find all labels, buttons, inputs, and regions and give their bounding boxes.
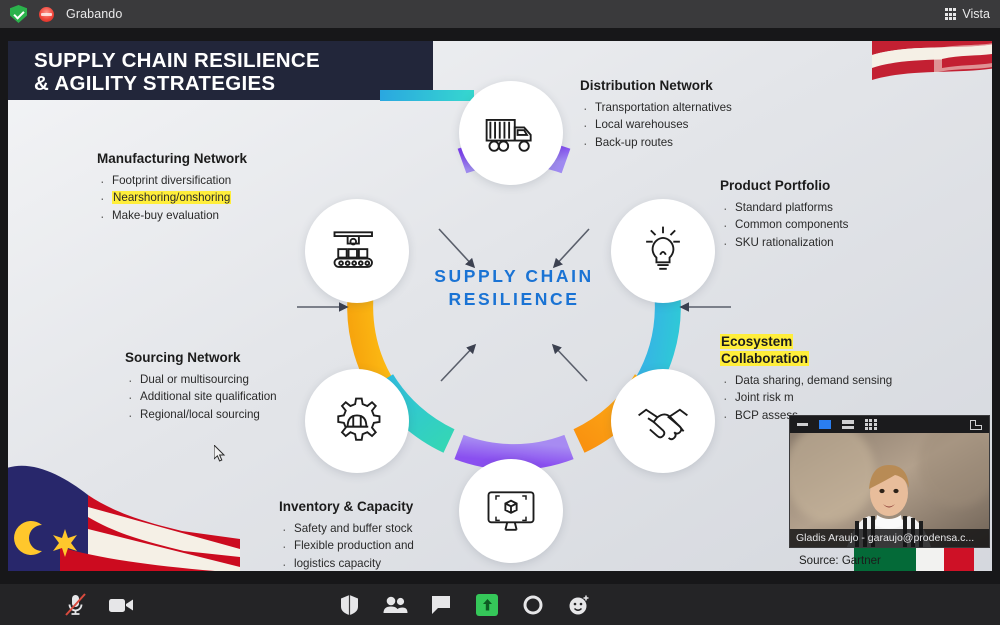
section-heading: Distribution Network — [580, 78, 795, 95]
list-item: Additional site qualification — [125, 388, 340, 405]
recording-indicator-icon[interactable] — [39, 7, 54, 22]
us-flag — [872, 41, 992, 113]
view-label: Vista — [962, 7, 990, 21]
heading-part1: Ecosystem — [720, 334, 793, 349]
list-item: Data sharing, demand sensing — [720, 372, 935, 389]
security-button[interactable] — [326, 584, 372, 625]
section-heading: Manufacturing Network — [97, 151, 297, 168]
microphone-muted-icon — [65, 593, 86, 617]
list-item: Standard platforms — [720, 199, 935, 216]
center-line2: RESILIENCE — [448, 289, 579, 309]
view-button[interactable]: Vista — [945, 7, 990, 21]
list-item: Safety and buffer stock — [279, 520, 494, 537]
chat-icon — [430, 594, 452, 615]
list-item: Footprint diversification — [97, 172, 297, 189]
section-manufacturing: Manufacturing Network Footprint diversif… — [97, 151, 297, 224]
shield-check-icon[interactable] — [10, 5, 27, 23]
malaysia-flag — [8, 451, 240, 571]
section-heading: Product Portfolio — [720, 178, 935, 195]
list-item: Regional/local sourcing — [125, 406, 340, 423]
section-ecosystem: Ecosystem Collaboration Data sharing, de… — [720, 334, 935, 424]
recording-label: Grabando — [66, 7, 122, 21]
list-item: Make-buy evaluation — [97, 207, 297, 224]
list-item: logistics capacity — [279, 555, 494, 571]
list-item: Transportation alternatives — [580, 99, 795, 116]
source-label: Source: Gartner — [799, 555, 881, 567]
record-button[interactable] — [510, 584, 556, 625]
participant-name-label: Gladis Araujo - garaujo@prodensa.c... — [790, 529, 989, 547]
section-bullets: Standard platforms Common components SKU… — [720, 199, 935, 251]
dump-truck-icon — [481, 103, 541, 163]
reactions-icon — [568, 594, 591, 616]
list-item: Flexible production and — [279, 537, 494, 554]
list-item: Back-up routes — [580, 134, 795, 151]
slide-title-line2: & AGILITY STRATEGIES — [34, 72, 275, 95]
section-inventory: Inventory & Capacity Safety and buffer s… — [279, 499, 494, 571]
video-panel-toolbar[interactable] — [790, 416, 989, 433]
recording-status: Grabando — [10, 5, 122, 23]
section-heading: Inventory & Capacity — [279, 499, 494, 516]
section-sourcing: Sourcing Network Dual or multisourcing A… — [125, 350, 340, 423]
microphone-button[interactable] — [52, 584, 98, 625]
active-view-icon[interactable] — [819, 420, 831, 429]
share-screen-icon — [476, 594, 498, 616]
shield-icon — [340, 594, 359, 616]
center-label: SUPPLY CHAIN RESILIENCE — [364, 265, 664, 311]
list-item: Dual or multisourcing — [125, 371, 340, 388]
share-screen-button[interactable] — [464, 584, 510, 625]
list-item: Local warehouses — [580, 116, 795, 133]
reactions-button[interactable] — [556, 584, 602, 625]
top-bar: Grabando Vista — [0, 0, 1000, 28]
node-distribution[interactable] — [459, 81, 563, 185]
heading-part2: Collaboration — [720, 351, 809, 366]
mouse-cursor — [214, 445, 226, 462]
section-bullets: Transportation alternatives Local wareho… — [580, 99, 795, 151]
meeting-window: Grabando Vista — [0, 0, 1000, 625]
meeting-toolbar — [0, 584, 1000, 625]
rows-view-icon[interactable] — [842, 420, 854, 429]
grid-icon — [945, 8, 957, 20]
list-item: SKU rationalization — [720, 234, 935, 251]
section-bullets: Safety and buffer stock Flexible product… — [279, 520, 494, 571]
section-distribution: Distribution Network Transportation alte… — [580, 78, 795, 151]
grid-view-icon[interactable] — [865, 419, 877, 431]
camera-button[interactable] — [98, 584, 144, 625]
minimize-icon[interactable] — [797, 423, 808, 426]
slide-title-line1: SUPPLY CHAIN RESILIENCE — [34, 49, 320, 72]
camera-icon — [108, 596, 134, 614]
section-heading: Ecosystem Collaboration — [720, 334, 935, 368]
participants-button[interactable] — [372, 584, 418, 625]
video-feed[interactable]: Gladis Araujo - garaujo@prodensa.c... — [790, 433, 989, 547]
record-icon — [522, 594, 544, 616]
shared-screen-stage[interactable]: SUPPLY CHAIN RESILIENCE & AGILITY STRATE… — [0, 28, 1000, 584]
node-ecosystem[interactable] — [611, 369, 715, 473]
section-product-portfolio: Product Portfolio Standard platforms Com… — [720, 178, 935, 251]
section-bullets: Dual or multisourcing Additional site qu… — [125, 371, 340, 423]
list-item: Joint risk m — [720, 389, 935, 406]
popout-icon[interactable] — [970, 420, 982, 430]
list-item: Common components — [720, 216, 935, 233]
handshake-icon — [633, 391, 693, 451]
chat-button[interactable] — [418, 584, 464, 625]
center-line1: SUPPLY CHAIN — [434, 266, 594, 286]
participants-icon — [382, 595, 408, 615]
section-bullets: Footprint diversification Nearshoring/on… — [97, 172, 297, 224]
self-view-video-panel[interactable]: Gladis Araujo - garaujo@prodensa.c... — [789, 415, 990, 548]
section-heading: Sourcing Network — [125, 350, 340, 367]
list-item: Nearshoring/onshoring — [97, 189, 297, 206]
